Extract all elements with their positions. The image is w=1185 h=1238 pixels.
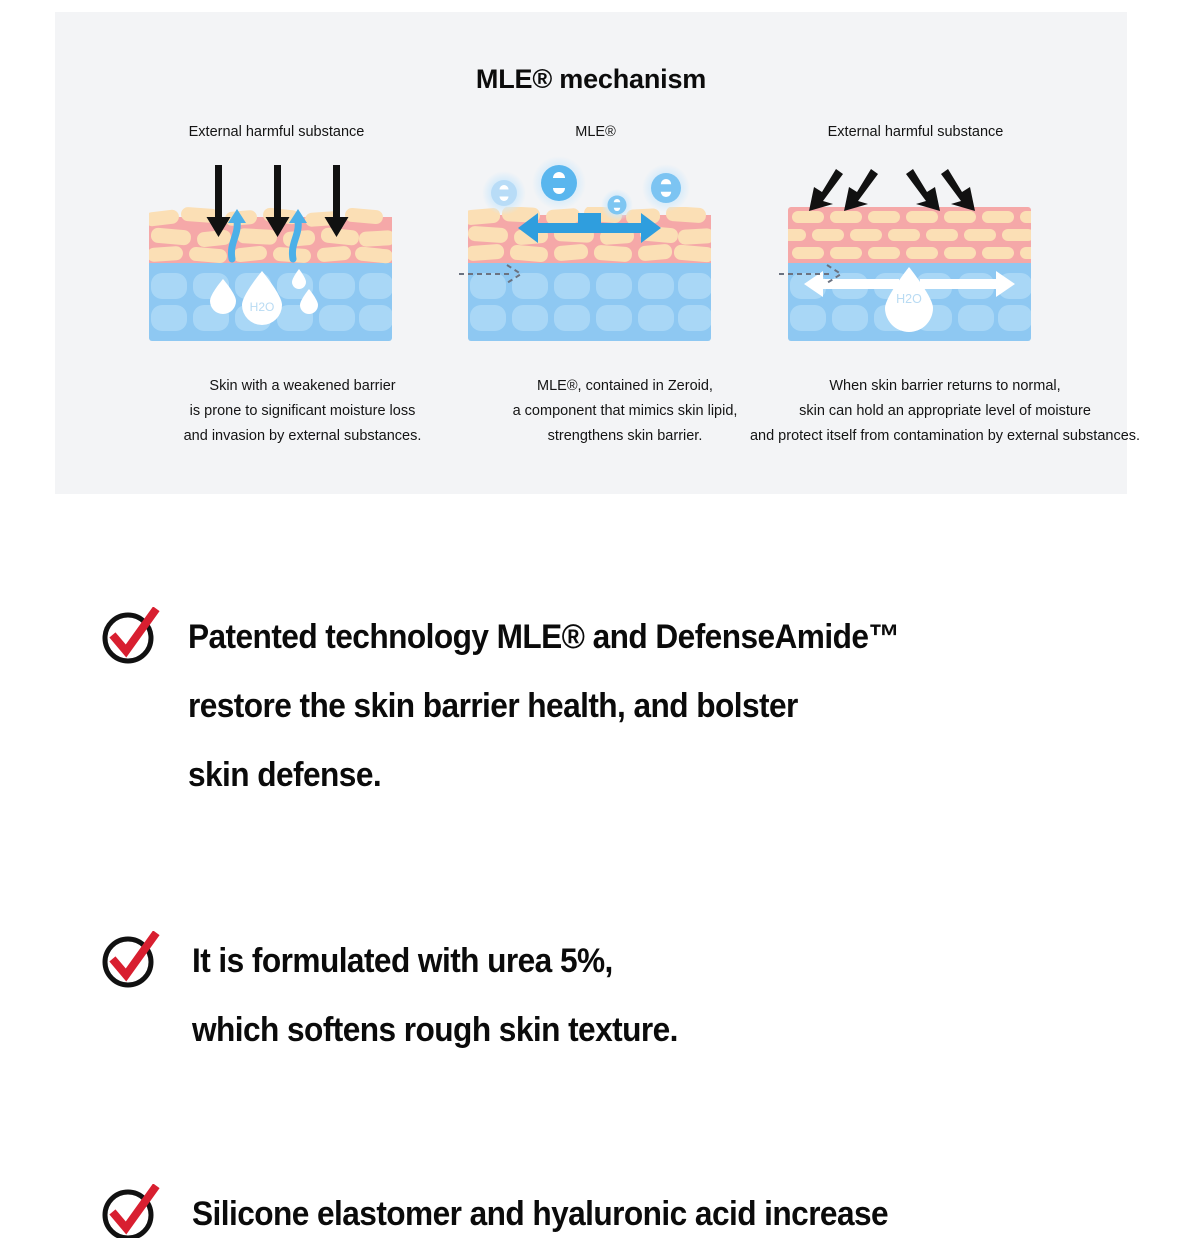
benefit-line: It is formulated with urea 5%,: [192, 927, 678, 996]
check-circle-icon: [100, 931, 162, 991]
benefit-line: Silicone elastomer and hyaluronic acid i…: [192, 1180, 893, 1238]
deflected-arrows: [809, 169, 975, 211]
h2o-label-3: H2O: [896, 292, 922, 306]
benefit-text-3: Silicone elastomer and hyaluronic acid i…: [162, 1180, 945, 1238]
benefit-line: Patented technology MLE® and DefenseAmid…: [188, 603, 899, 672]
caption-line: and invasion by external substances.: [115, 424, 490, 449]
benefit-item-2: It is formulated with urea 5%, which sof…: [100, 927, 1185, 1065]
weakened-barrier-illustration: H2O: [149, 151, 404, 341]
benefit-line: restore the skin barrier health, and bol…: [188, 672, 899, 741]
benefit-line: which softens rough skin texture.: [192, 996, 678, 1065]
flow-arrow-1: [457, 260, 527, 288]
page-title: MLE® mechanism: [55, 64, 1127, 95]
benefit-item-3: Silicone elastomer and hyaluronic acid i…: [100, 1180, 1185, 1238]
column-3-label: External harmful substance: [788, 122, 1043, 142]
caption-line: When skin barrier returns to normal,: [705, 374, 1185, 399]
page-root: MLE® mechanism External harmful substanc…: [0, 0, 1185, 1238]
flow-arrow-2: [777, 260, 847, 288]
caption-column-1: Skin with a weakened barrier is prone to…: [115, 374, 490, 449]
mechanism-column-2: MLE®: [468, 122, 723, 341]
mle-molecule: [482, 171, 526, 215]
caption-line: and protect itself from contamination by…: [705, 424, 1185, 449]
mechanism-captions: Skin with a weakened barrier is prone to…: [55, 374, 1127, 474]
column-1-label: External harmful substance: [149, 122, 404, 142]
caption-line: skin can hold an appropriate level of mo…: [705, 399, 1185, 424]
check-circle-icon: [100, 1184, 162, 1238]
benefit-text-1: Patented technology MLE® and DefenseAmid…: [162, 603, 953, 810]
benefit-text-2: It is formulated with urea 5%, which sof…: [162, 927, 714, 1065]
restored-barrier-illustration: H2O: [788, 151, 1043, 341]
caption-line: Skin with a weakened barrier: [115, 374, 490, 399]
h2o-label-1: H2O: [250, 300, 275, 314]
column-2-label: MLE®: [468, 122, 723, 142]
mle-mechanism-panel: MLE® mechanism External harmful substanc…: [55, 12, 1127, 494]
benefits-list: Patented technology MLE® and DefenseAmid…: [0, 585, 1185, 1238]
caption-column-3: When skin barrier returns to normal, ski…: [705, 374, 1185, 449]
benefit-line: skin defense.: [188, 741, 899, 810]
check-circle-icon: [100, 607, 162, 667]
benefit-item-1: Patented technology MLE® and DefenseAmid…: [100, 603, 1185, 810]
mle-lamellar-illustration: [468, 151, 723, 341]
mechanism-column-3: External harmful substance: [788, 122, 1043, 341]
caption-line: is prone to significant moisture loss: [115, 399, 490, 424]
mechanism-column-1: External harmful substance: [149, 122, 404, 341]
